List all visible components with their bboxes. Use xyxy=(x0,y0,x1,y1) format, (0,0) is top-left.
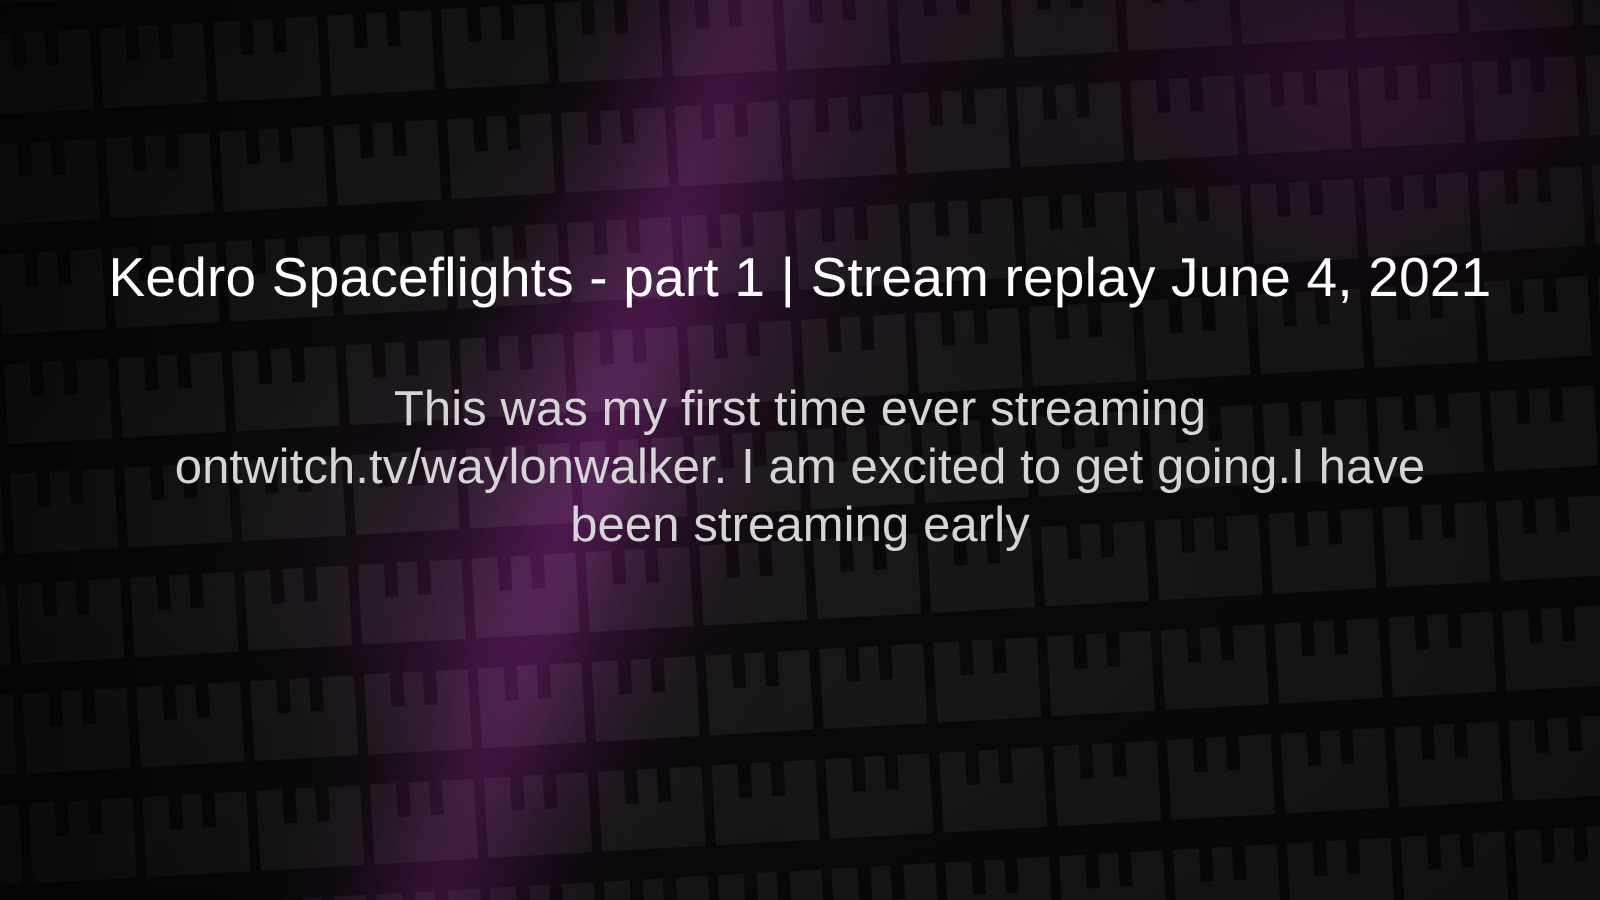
twitch-glitch-icon xyxy=(29,798,137,884)
twitch-glitch-icon xyxy=(0,694,17,780)
twitch-glitch-icon xyxy=(819,643,927,729)
twitch-glitch-icon xyxy=(142,791,250,877)
twitch-glitch-icon xyxy=(1478,166,1586,252)
twitch-glitch-icon xyxy=(472,553,580,639)
twitch-glitch-icon xyxy=(219,126,327,212)
twitch-glitch-icon xyxy=(441,4,549,90)
twitch-glitch-icon xyxy=(1167,734,1275,820)
twitch-glitch-icon xyxy=(1401,831,1509,900)
twitch-glitch-icon xyxy=(1281,728,1389,814)
twitch-glitch-icon xyxy=(327,10,435,96)
twitch-glitch-icon xyxy=(447,113,555,199)
twitch-glitch-icon xyxy=(592,656,700,742)
twitch-glitch-icon xyxy=(130,572,238,658)
twitch-glitch-icon xyxy=(1388,612,1496,698)
card-text-block: Kedro Spaceflights - part 1 | Stream rep… xyxy=(0,248,1600,555)
twitch-glitch-icon xyxy=(0,139,100,225)
twitch-glitch-icon xyxy=(939,747,1047,833)
twitch-glitch-icon xyxy=(1244,69,1352,155)
twitch-glitch-icon xyxy=(1016,82,1124,168)
twitch-glitch-icon xyxy=(358,559,466,645)
twitch-glitch-icon xyxy=(705,650,813,736)
twitch-glitch-icon xyxy=(561,107,669,193)
twitch-glitch-icon xyxy=(1130,75,1238,161)
twitch-glitch-icon xyxy=(1502,605,1600,691)
twitch-glitch-icon xyxy=(945,857,1053,900)
twitch-glitch-icon xyxy=(1124,0,1232,51)
twitch-glitch-icon xyxy=(333,120,441,206)
twitch-glitch-icon xyxy=(825,753,933,839)
twitch-glitch-icon xyxy=(1173,844,1281,900)
twitch-glitch-icon xyxy=(0,585,11,671)
twitch-glitch-icon xyxy=(933,637,1041,723)
twitch-glitch-icon xyxy=(1585,50,1600,136)
twitch-glitch-icon xyxy=(256,785,364,871)
twitch-glitch-icon xyxy=(1471,56,1579,142)
twitch-glitch-icon xyxy=(585,546,693,632)
twitch-glitch-icon xyxy=(711,760,819,846)
twitch-glitch-icon xyxy=(1358,62,1466,148)
card-title: Kedro Spaceflights - part 1 | Stream rep… xyxy=(96,248,1504,307)
twitch-glitch-icon xyxy=(484,772,592,858)
twitch-glitch-icon xyxy=(262,895,370,900)
twitch-glitch-icon xyxy=(896,0,1004,64)
twitch-glitch-icon xyxy=(136,682,244,768)
twitch-glitch-icon xyxy=(1059,850,1167,900)
twitch-glitch-icon xyxy=(0,29,94,115)
twitch-glitch-icon xyxy=(1351,0,1459,38)
twitch-glitch-icon xyxy=(478,663,586,749)
stream-replay-card: Kedro Spaceflights - part 1 | Stream rep… xyxy=(0,0,1600,900)
twitch-glitch-icon xyxy=(604,876,712,900)
twitch-glitch-icon xyxy=(490,882,598,900)
twitch-glitch-icon xyxy=(364,669,472,755)
twitch-glitch-icon xyxy=(1394,721,1502,807)
twitch-glitch-icon xyxy=(0,0,88,5)
twitch-glitch-icon xyxy=(668,0,776,77)
twitch-glitch-icon xyxy=(1591,160,1600,246)
twitch-glitch-icon xyxy=(244,565,352,651)
twitch-glitch-icon xyxy=(1047,631,1155,717)
twitch-glitch-icon xyxy=(376,889,484,900)
twitch-glitch-icon xyxy=(99,23,207,109)
twitch-glitch-icon xyxy=(1514,825,1600,900)
twitch-glitch-icon xyxy=(370,779,478,865)
twitch-glitch-icon xyxy=(788,94,896,180)
twitch-glitch-icon xyxy=(718,869,826,900)
twitch-glitch-icon xyxy=(1579,0,1600,26)
twitch-glitch-icon xyxy=(831,863,939,900)
twitch-glitch-icon xyxy=(675,101,783,187)
twitch-glitch-icon xyxy=(1287,838,1395,900)
twitch-glitch-icon xyxy=(1274,618,1382,704)
twitch-glitch-icon xyxy=(1053,741,1161,827)
twitch-glitch-icon xyxy=(1238,0,1346,45)
twitch-glitch-icon xyxy=(782,0,890,70)
card-description: This was my first time ever streaming on… xyxy=(128,381,1473,554)
twitch-glitch-icon xyxy=(1508,715,1600,801)
twitch-glitch-icon xyxy=(598,766,706,852)
twitch-glitch-icon xyxy=(213,16,321,102)
twitch-glitch-icon xyxy=(16,578,124,664)
twitch-glitch-icon xyxy=(250,675,358,761)
twitch-glitch-icon xyxy=(0,804,23,890)
twitch-glitch-icon xyxy=(1161,624,1269,710)
twitch-glitch-icon xyxy=(22,688,130,774)
twitch-glitch-icon xyxy=(1010,0,1118,57)
twitch-glitch-icon xyxy=(555,0,663,83)
twitch-glitch-icon xyxy=(1465,0,1573,32)
twitch-glitch-icon xyxy=(106,132,214,218)
twitch-glitch-icon xyxy=(902,88,1010,174)
